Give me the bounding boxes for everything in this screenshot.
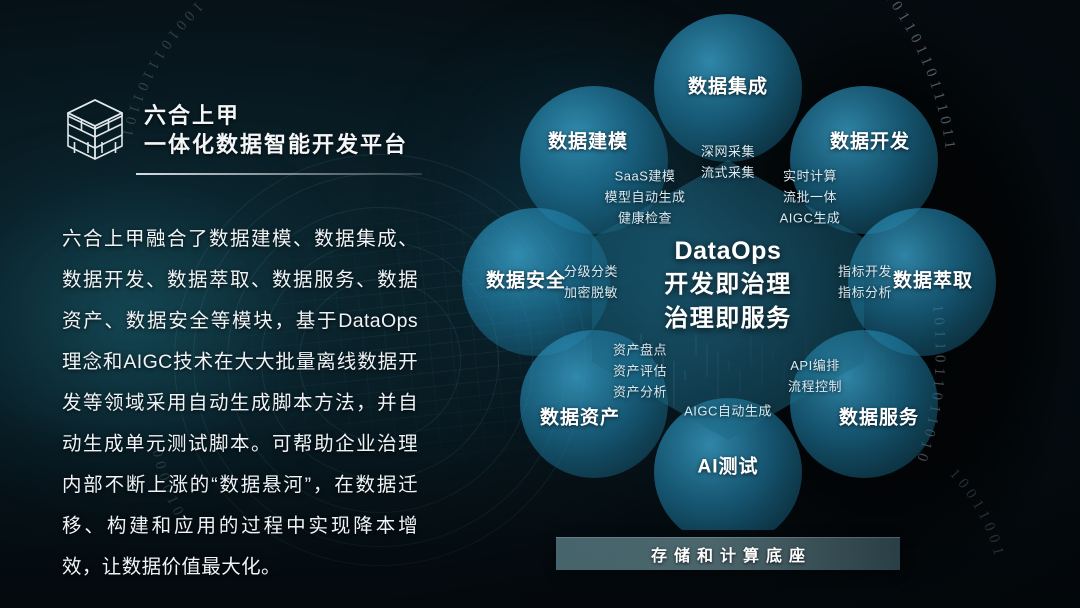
- brand-subtitle: 一体化数据智能开发平台: [144, 132, 408, 159]
- capability-item: 实时计算: [780, 166, 841, 187]
- dataops-venn-diagram: 数据集成数据建模数据开发数据安全数据萃取数据资产数据服务AI测试深网采集流式采集…: [452, 10, 1052, 530]
- core-line-2: 治理即服务: [664, 302, 792, 336]
- capability-list-modeling-core: SaaS建模模型自动生成健康检查: [604, 166, 685, 229]
- capability-item: 健康检查: [604, 208, 685, 229]
- module-label-data-security[interactable]: 数据安全: [486, 270, 566, 295]
- capability-list-extraction-core: 指标开发指标分析: [838, 261, 892, 303]
- brand-block: 六合上甲 一体化数据智能开发平台: [62, 96, 422, 166]
- foundation-bar-label: 存储和计算底座: [644, 542, 812, 566]
- module-label-data-development[interactable]: 数据开发: [830, 131, 910, 156]
- module-label-data-extraction[interactable]: 数据萃取: [893, 270, 973, 295]
- capability-list-service-core: API编排流程控制: [788, 355, 842, 397]
- capability-item: API编排: [788, 355, 842, 376]
- capability-list-development-core: 实时计算流批一体AIGC生成: [780, 166, 841, 229]
- brand-name: 六合上甲: [144, 103, 408, 130]
- capability-item: AIGC自动生成: [684, 401, 772, 422]
- capability-item: 流式采集: [701, 162, 755, 183]
- core-dataops-label: DataOps开发即治理治理即服务: [664, 234, 792, 336]
- capability-item: 流批一体: [780, 187, 841, 208]
- capability-item: 模型自动生成: [604, 187, 685, 208]
- module-label-ai-testing[interactable]: AI测试: [697, 456, 758, 481]
- brand-divider: [136, 173, 422, 175]
- capability-item: 分级分类: [564, 261, 618, 282]
- capability-item: AIGC生成: [780, 208, 841, 229]
- intro-panel: 六合上甲 一体化数据智能开发平台 六合上甲融合了数据建模、数据集成、数据开发、数…: [62, 96, 422, 608]
- capability-list-security-core: 分级分类加密脱敏: [564, 261, 618, 303]
- module-label-data-assets[interactable]: 数据资产: [540, 407, 620, 432]
- capability-list-assets-core: 资产盘点资产评估资产分析: [613, 340, 667, 403]
- capability-item: 资产分析: [613, 382, 667, 403]
- capability-item: 流程控制: [788, 376, 842, 397]
- capability-item: SaaS建模: [604, 166, 685, 187]
- capability-item: 资产盘点: [613, 340, 667, 361]
- capability-item: 资产评估: [613, 361, 667, 382]
- capability-item: 指标分析: [838, 282, 892, 303]
- capability-list-integration-modeling: 深网采集流式采集: [701, 141, 755, 183]
- brand-text-block: 六合上甲 一体化数据智能开发平台: [144, 103, 408, 159]
- module-label-data-modeling[interactable]: 数据建模: [548, 131, 628, 156]
- core-title-en: DataOps: [664, 234, 792, 268]
- module-label-data-integration[interactable]: 数据集成: [688, 76, 768, 101]
- isometric-brick-wall-icon: [62, 96, 128, 166]
- capability-list-ai-testing-core: AIGC自动生成: [684, 401, 772, 422]
- slide-canvas: 10110110111011 1011011011010 10010111011…: [0, 0, 1080, 608]
- capability-item: 指标开发: [838, 261, 892, 282]
- foundation-bar: 存储和计算底座: [556, 537, 900, 570]
- product-description: 六合上甲融合了数据建模、数据集成、数据开发、数据萃取、数据服务、数据资产、数据安…: [62, 219, 418, 588]
- core-line-1: 开发即治理: [664, 268, 792, 302]
- module-label-data-service[interactable]: 数据服务: [839, 407, 919, 432]
- capability-item: 深网采集: [701, 141, 755, 162]
- capability-item: 加密脱敏: [564, 282, 618, 303]
